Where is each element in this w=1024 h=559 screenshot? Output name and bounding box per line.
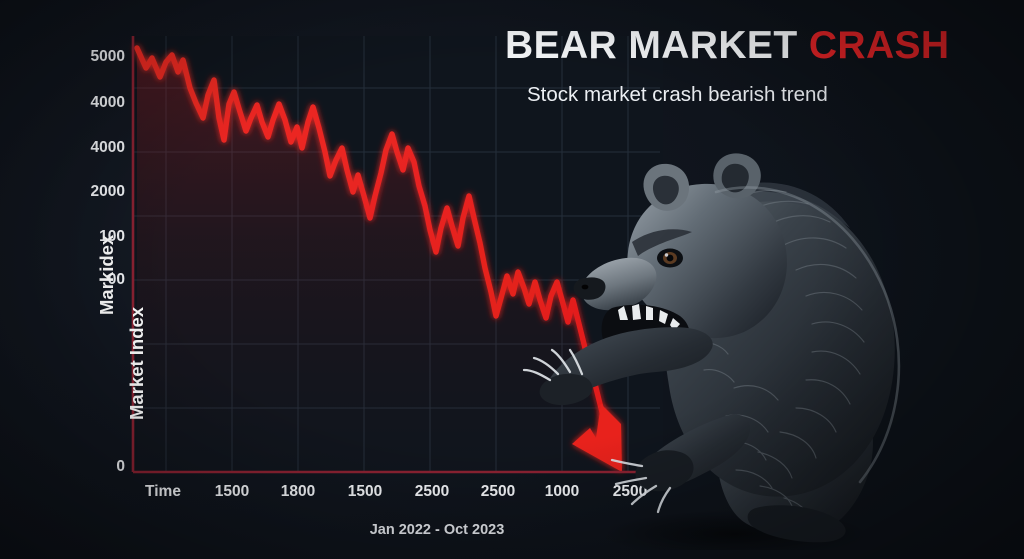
y-tick-label: 4000 (57, 94, 125, 112)
x-tick-label: 1500 (334, 483, 396, 501)
y-axis-label: Market Index (126, 307, 148, 420)
x-axis-label: Time (132, 483, 194, 501)
y-tick-label: 4000 (57, 139, 125, 157)
x-tick-label: 2500 (401, 483, 463, 501)
title-block: BEAR MARKET CRASH Stock market crash bea… (505, 26, 935, 107)
x-tick-label: 1500 (201, 483, 263, 501)
bear-lower-paw (636, 450, 694, 491)
bear-eye-glint (665, 253, 668, 256)
y-tick-label: 5000 (57, 48, 125, 66)
grizzly-bear-illustration (520, 130, 920, 550)
poster-canvas: 5000 4000 4000 2000 100 00 0 Markidex Ma… (0, 0, 1024, 559)
y-tick-label: 2000 (57, 183, 125, 201)
page-title: BEAR MARKET CRASH (505, 26, 935, 67)
y-axis-label-artifact: Markidex (96, 235, 118, 315)
title-red-part: CRASH (809, 24, 950, 67)
page-subtitle: Stock market crash bearish trend (527, 83, 935, 107)
bear-nostril (582, 285, 589, 290)
y-tick-label: 0 (57, 458, 125, 476)
x-tick-label: 1800 (267, 483, 329, 501)
title-white-part: BEAR MARKET (505, 24, 798, 67)
